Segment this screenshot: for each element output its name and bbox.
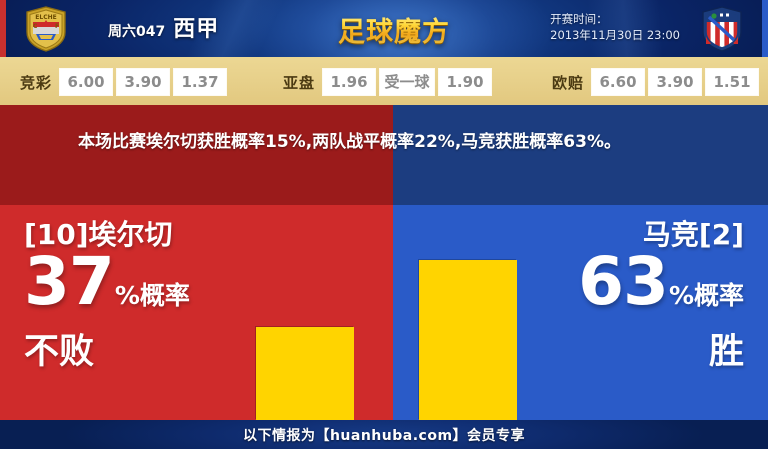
footer-bar: 以下情报为【huanhuba.com】会员专享 (0, 420, 768, 449)
odds-value-cell[interactable]: 1.37 (174, 69, 226, 95)
header-left-accent (0, 0, 6, 57)
home-outcome-label: 不败 (24, 329, 254, 375)
odds-value-cell[interactable]: 6.60 (592, 69, 644, 95)
away-team-block: 马竞[2] 63 %概率 胜 (514, 217, 744, 375)
away-outcome-label: 胜 (514, 329, 744, 375)
svg-text:C: C (33, 23, 38, 30)
away-probability-line: 63 %概率 (514, 251, 744, 327)
svg-text:F: F (55, 23, 59, 30)
home-team-block: [10]埃尔切 37 %概率 不败 (24, 217, 254, 375)
odds-value-cell[interactable]: 1.96 (323, 69, 375, 95)
footer-text: 以下情报为【huanhuba.com】会员专享 (243, 425, 525, 445)
home-probability-line: 37 %概率 (24, 251, 254, 327)
home-team-crest-icon: ELCHE C F (24, 6, 68, 52)
away-probability-bar (419, 260, 517, 420)
odds-group-title: 亚盘 (283, 72, 315, 93)
home-probability-value: 37 (24, 251, 114, 313)
odds-group-title: 欧赔 (552, 72, 584, 93)
infographic-page: ELCHE C F 周六047 西甲 足球魔方 开赛时间： 2013年11月30… (0, 0, 768, 449)
summary-text: 本场比赛埃尔切获胜概率15%,两队战平概率22%,马竞获胜概率63%。 (78, 127, 698, 157)
league-label: 西甲 (173, 11, 219, 43)
odds-group-european: 欧赔 6.60 3.90 1.51 (552, 69, 758, 95)
away-team-crest-icon (700, 6, 744, 52)
odds-group-title: 竞彩 (20, 72, 52, 93)
probability-panels: [10]埃尔切 37 %概率 不败 马竞[2] 63 %概率 胜 (0, 205, 768, 420)
kickoff-label: 开赛时间： (550, 11, 680, 27)
odds-bar: 竞彩 6.00 3.90 1.37 亚盘 1.96 受一球 1.90 欧赔 6.… (0, 57, 768, 105)
odds-handicap-cell[interactable]: 受一球 (380, 69, 434, 95)
brand-logo: 足球魔方 (328, 9, 460, 49)
kickoff-info: 开赛时间： 2013年11月30日 23:00 (550, 11, 680, 43)
brand-logo-text: 足球魔方 (338, 10, 450, 49)
home-probability-bar (256, 327, 354, 420)
match-title-group: 周六047 西甲 (108, 11, 219, 43)
odds-value-cell[interactable]: 1.90 (439, 69, 491, 95)
odds-value-cell[interactable]: 3.90 (649, 69, 701, 95)
odds-value-cell[interactable]: 1.51 (706, 69, 758, 95)
odds-group-jingcai: 竞彩 6.00 3.90 1.37 (20, 69, 226, 95)
away-probability-value: 63 (578, 251, 668, 313)
header-right-accent (762, 0, 768, 57)
round-label: 周六047 (108, 21, 165, 41)
header-bar: ELCHE C F 周六047 西甲 足球魔方 开赛时间： 2013年11月30… (0, 0, 768, 57)
odds-value-cell[interactable]: 6.00 (60, 69, 112, 95)
kickoff-value: 2013年11月30日 23:00 (550, 27, 680, 43)
odds-value-cell[interactable]: 3.90 (117, 69, 169, 95)
home-probability-unit: %概率 (115, 265, 190, 327)
svg-text:ELCHE: ELCHE (35, 14, 56, 21)
summary-band: 本场比赛埃尔切获胜概率15%,两队战平概率22%,马竞获胜概率63%。 (0, 105, 768, 205)
away-probability-unit: %概率 (669, 265, 744, 327)
odds-group-asian-handicap: 亚盘 1.96 受一球 1.90 (283, 69, 491, 95)
